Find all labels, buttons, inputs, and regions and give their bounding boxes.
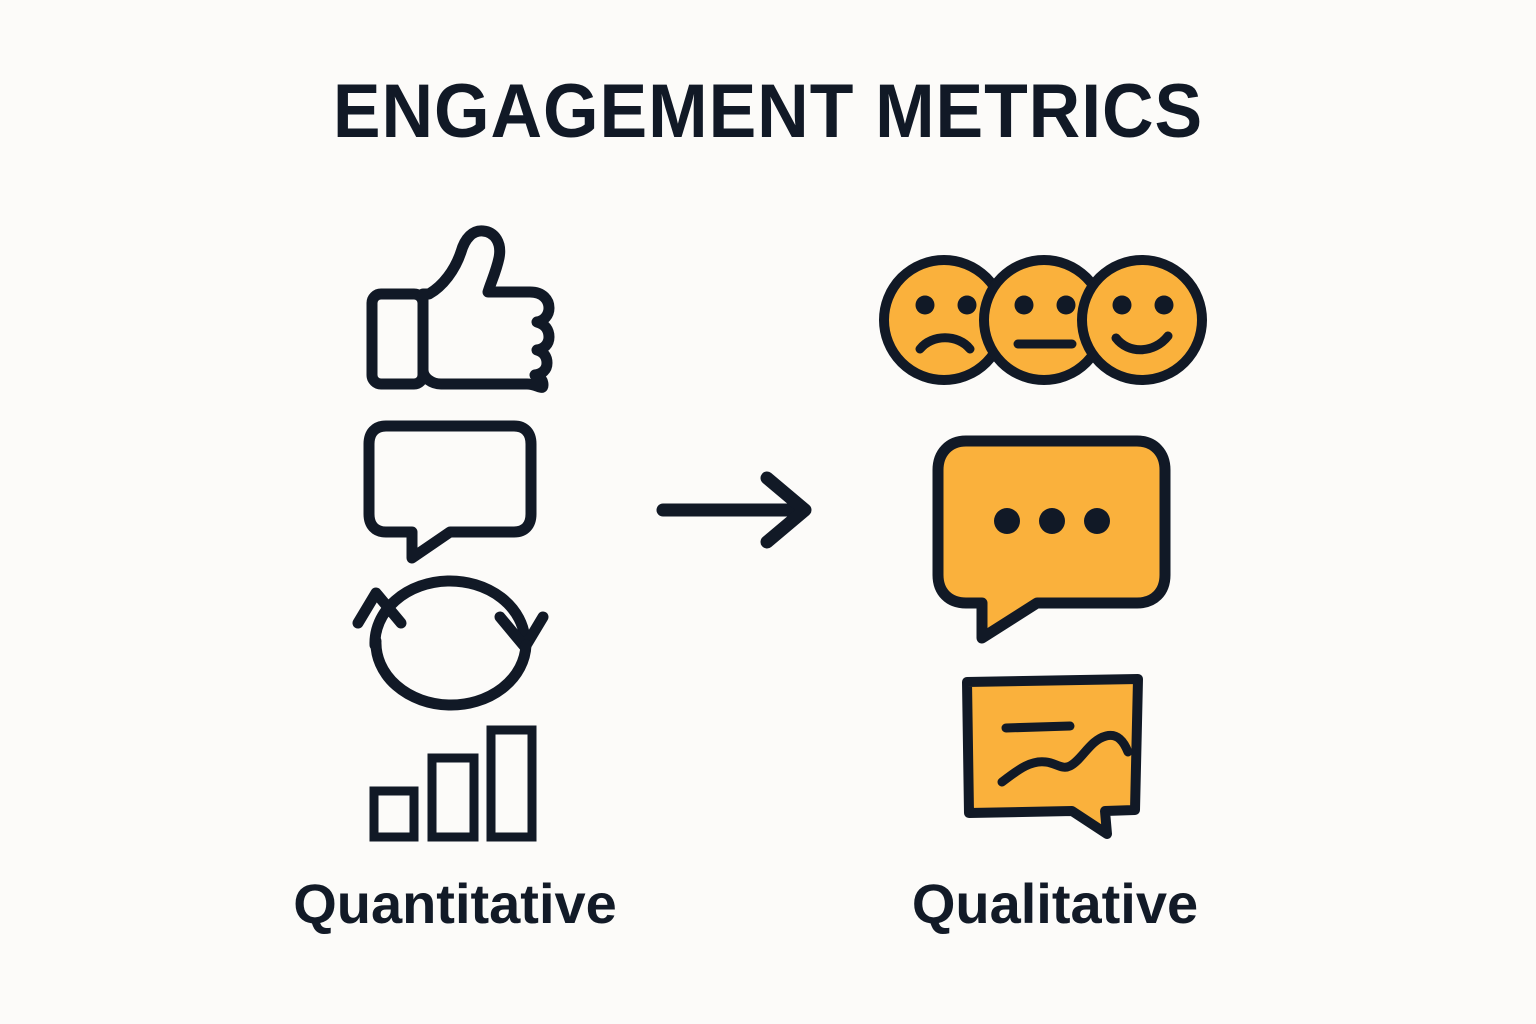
bar-3 [491,730,532,837]
quantitative-label: Quantitative [255,876,655,932]
speech-bubble-icon [360,420,540,565]
chart-baseline [1006,726,1070,728]
thumbs-up-icon [355,220,555,395]
dot-3 [1084,508,1110,534]
dot-1 [994,508,1020,534]
refresh-cycle-icon [358,575,543,715]
qualitative-label: Qualitative [855,876,1255,932]
happy-face-icon [1082,260,1202,380]
sentiment-faces-icon [880,250,1210,390]
speech-bubble-dots-icon [932,435,1177,650]
infographic-canvas: ENGAGEMENT METRICS [0,0,1536,1024]
right-arrow-icon [655,470,825,550]
page-title: ENGAGEMENT METRICS [46,74,1490,150]
bar-2 [432,758,474,837]
insight-chart-bubble-icon [960,670,1150,840]
dot-2 [1039,508,1065,534]
bar-chart-icon [368,723,538,843]
bar-1 [374,791,414,837]
